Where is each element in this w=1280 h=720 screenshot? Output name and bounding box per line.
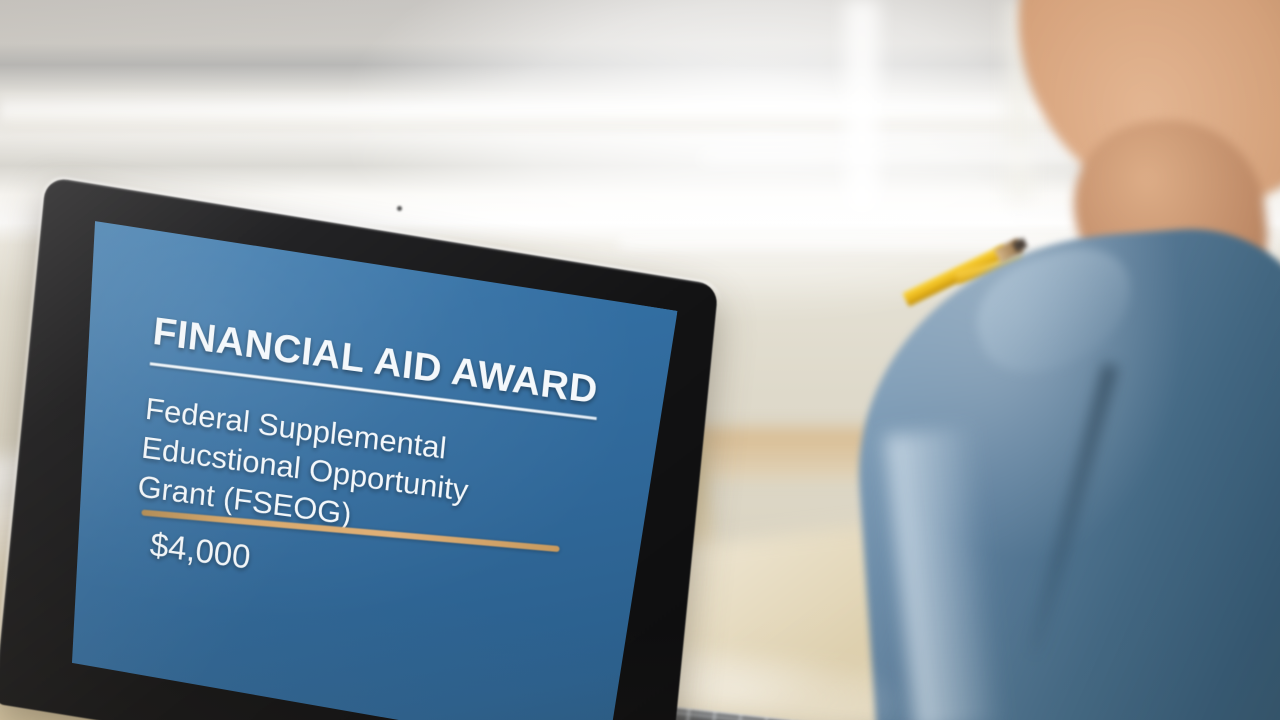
laptop: FINANCIAL AID AWARD Federal Supplemental… bbox=[0, 0, 1280, 720]
webcam-icon bbox=[397, 206, 402, 211]
photo-scene: FINANCIAL AID AWARD Federal Supplemental… bbox=[0, 0, 1280, 720]
award-amount: $4,000 bbox=[148, 526, 630, 628]
